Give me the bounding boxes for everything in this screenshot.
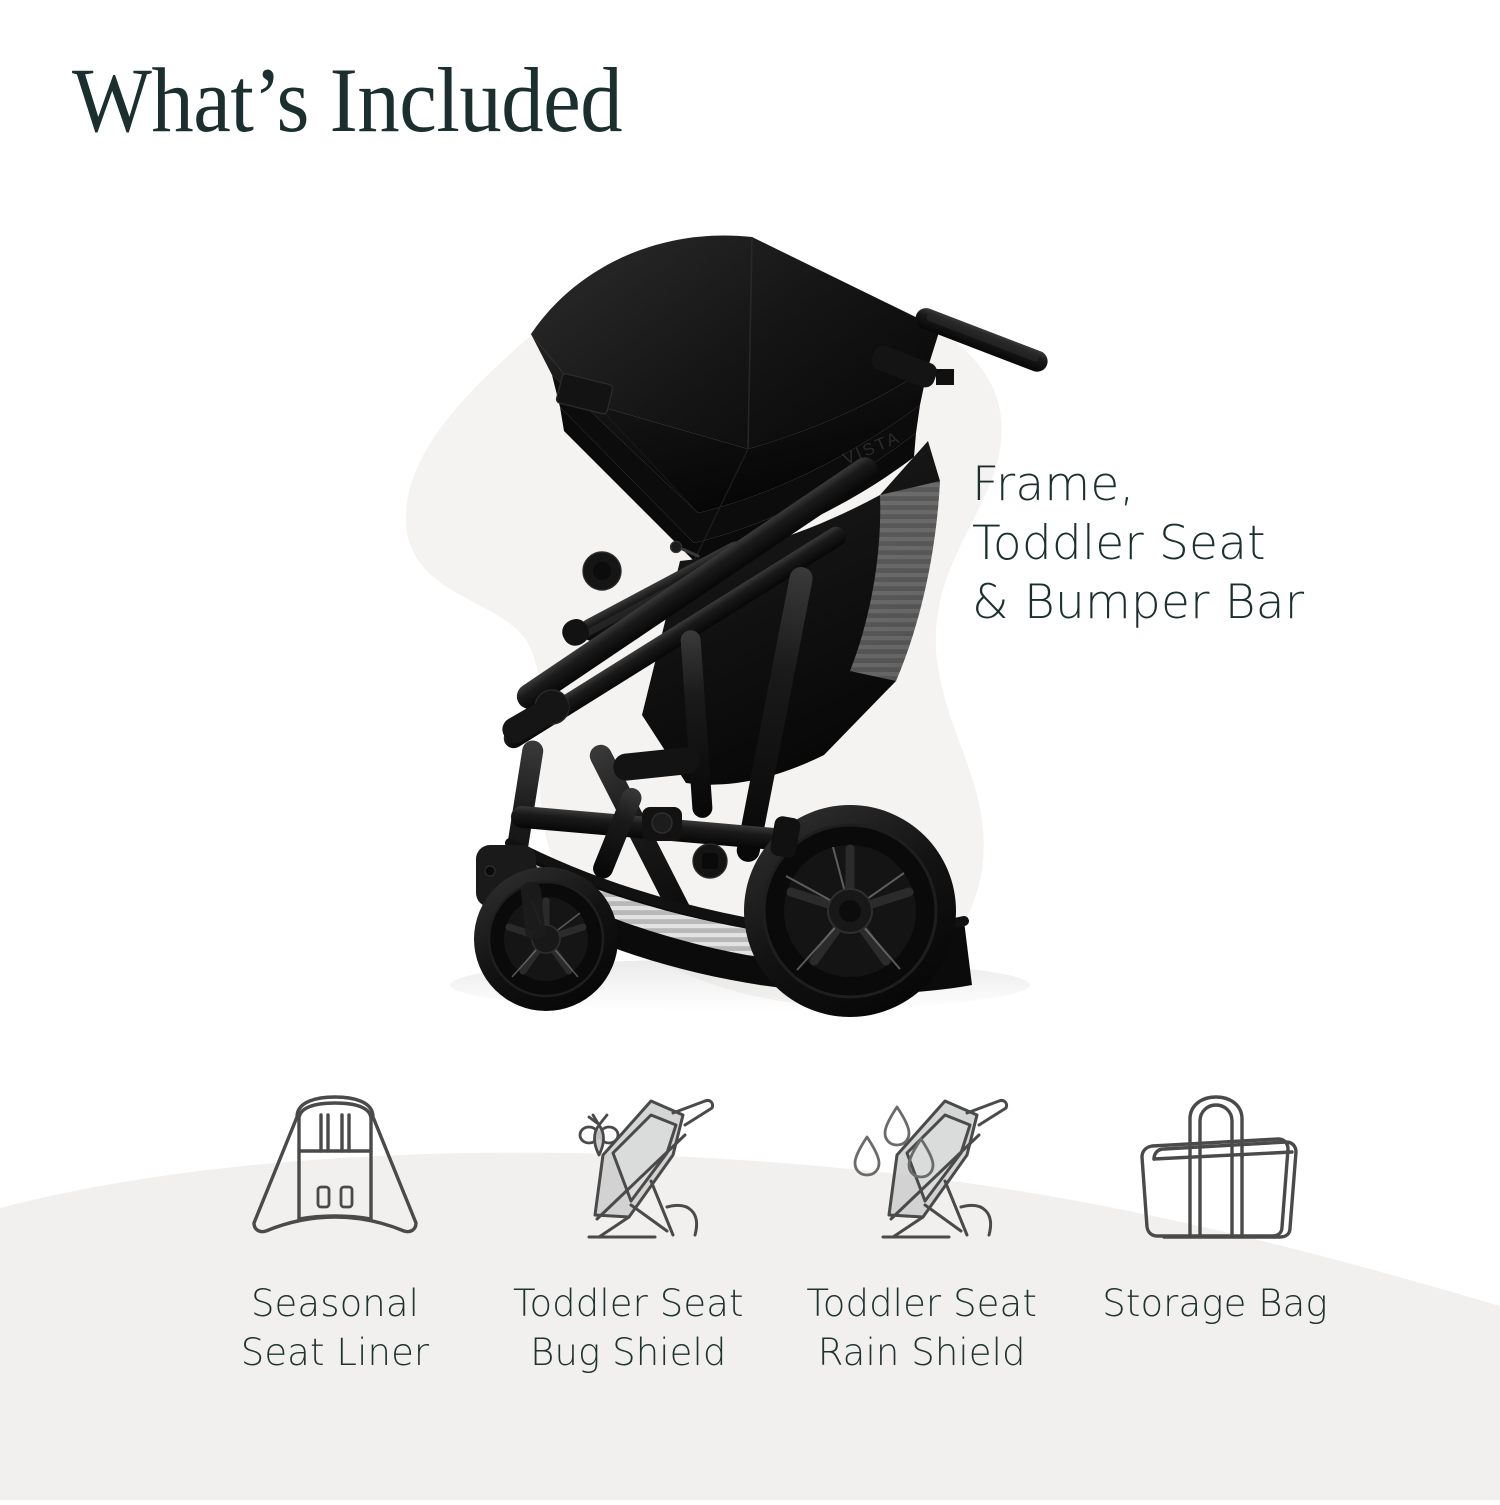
storage-bag-icon <box>1120 1095 1310 1245</box>
included-item-label: Toddler Seat Rain Shield <box>806 1279 1037 1377</box>
rain-shield-icon <box>827 1095 1017 1245</box>
included-item-label: Storage Bag <box>1102 1279 1327 1328</box>
bug-shield-icon <box>533 1095 723 1245</box>
included-item-label: Seasonal Seat Liner <box>241 1279 430 1377</box>
included-items-row: Seasonal Seat Liner <box>195 1095 1355 1425</box>
included-item-rain-shield[interactable]: Toddler Seat Rain Shield <box>782 1095 1062 1377</box>
seat-liner-icon <box>240 1095 430 1245</box>
included-item-seat-liner[interactable]: Seasonal Seat Liner <box>195 1095 475 1377</box>
included-item-label: Toddler Seat Bug Shield <box>513 1279 744 1377</box>
hero-caption: Frame, Toddler Seat & Bumper Bar <box>972 455 1304 633</box>
included-item-storage-bag[interactable]: Storage Bag <box>1075 1095 1355 1328</box>
infographic-canvas: What’s Included <box>0 0 1500 1500</box>
page-title: What’s Included <box>72 52 622 149</box>
included-item-bug-shield[interactable]: Toddler Seat Bug Shield <box>488 1095 768 1377</box>
